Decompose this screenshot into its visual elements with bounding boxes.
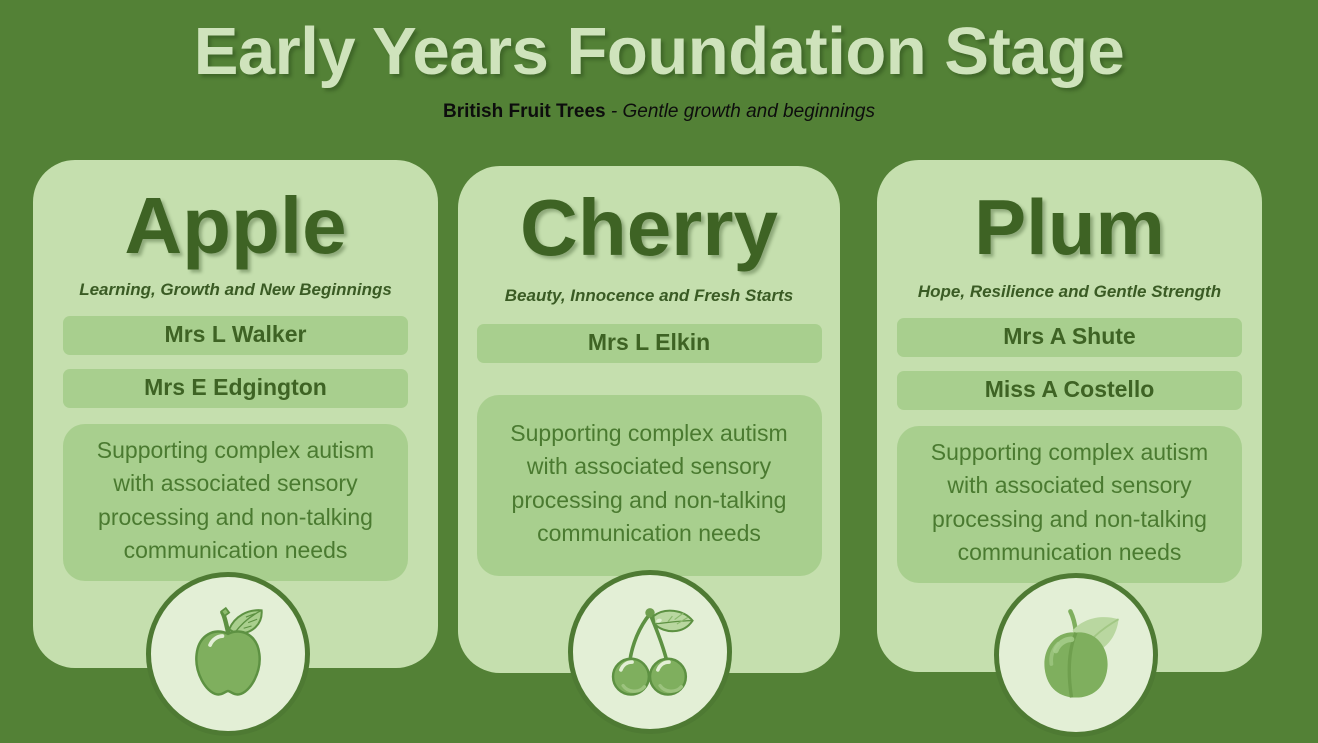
subtitle-strong: British Fruit Trees: [443, 101, 606, 122]
staff-pill[interactable]: Mrs E Edgington: [63, 369, 408, 408]
card-description-plum: Supporting complex autism with associate…: [897, 426, 1242, 583]
staff-pill[interactable]: Mrs L Walker: [63, 316, 408, 355]
card-title-apple: Apple: [124, 186, 346, 266]
apple-icon: [172, 598, 284, 710]
subtitle-italic: - Gentle growth and beginnings: [606, 101, 875, 122]
card-title-cherry: Cherry: [520, 188, 778, 268]
card-title-plum: Plum: [974, 188, 1165, 266]
staff-pill[interactable]: Mrs L Elkin: [477, 324, 822, 363]
plum-icon: [1020, 599, 1132, 711]
staff-pill[interactable]: Miss A Costello: [897, 371, 1242, 410]
staff-list-cherry: Mrs L Elkin: [458, 324, 840, 377]
page-subtitle: British Fruit Trees - Gentle growth and …: [0, 101, 1318, 123]
staff-pill[interactable]: Mrs A Shute: [897, 318, 1242, 357]
page-header: Early Years Foundation Stage British Fru…: [0, 0, 1318, 150]
card-tagline-apple: Learning, Growth and New Beginnings: [79, 280, 392, 300]
staff-list-plum: Mrs A Shute Miss A Costello: [877, 318, 1262, 424]
cherry-icon: [594, 596, 706, 708]
card-tagline-plum: Hope, Resilience and Gentle Strength: [918, 282, 1221, 302]
card-description-cherry: Supporting complex autism with associate…: [477, 395, 822, 576]
apple-badge: [146, 572, 310, 736]
cherry-badge: [568, 570, 732, 734]
plum-badge: [994, 573, 1158, 737]
staff-list-apple: Mrs L Walker Mrs E Edgington: [33, 316, 438, 422]
page-title: Early Years Foundation Stage: [0, 0, 1318, 85]
card-description-apple: Supporting complex autism with associate…: [63, 424, 408, 581]
card-tagline-cherry: Beauty, Innocence and Fresh Starts: [505, 286, 793, 306]
